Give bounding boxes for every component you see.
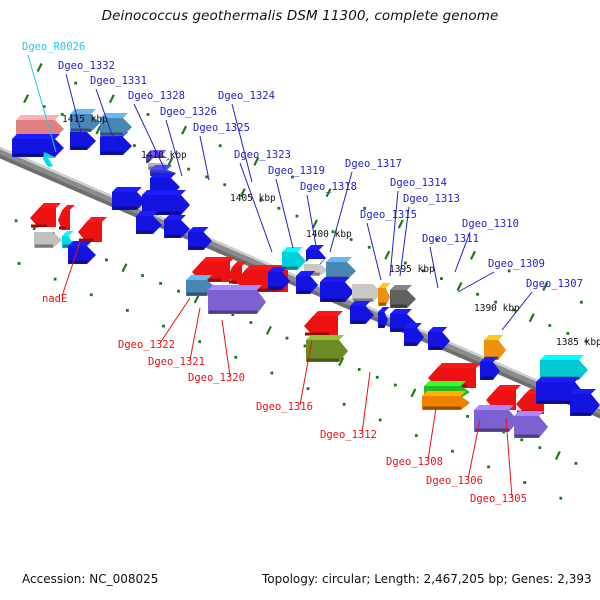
rna-label[interactable]: Dgeo_R0026 [22,41,85,53]
gene-glyph-bottom-shade [113,207,137,210]
gene-label-forward[interactable]: Dgeo_1324 [218,90,275,102]
gene-glyph-bottom-shade [481,377,493,380]
gene-glyph-top-bevel [306,335,344,340]
scale-tick-dot [286,337,289,340]
gene-glyph-bottom-shade [101,152,123,155]
gene-glyph-top-bevel [320,277,350,282]
gene-glyph-top-bevel [390,309,412,314]
scale-tick-dot [219,144,222,147]
scale-tick-dot [198,340,201,343]
gene-label-forward[interactable]: Dgeo_1323 [234,149,291,161]
scale-tick-dot [440,277,443,280]
gene-glyph[interactable] [352,279,382,302]
scale-tick-dot [394,384,397,387]
label-leader-line [428,408,436,460]
gene-glyph-bottom-shade [137,231,153,234]
scale-tick-mark [182,126,186,134]
gene-glyph[interactable] [12,134,64,157]
scale-tick-dot [476,293,479,296]
scale-tick-mark [399,220,403,228]
gene-glyph-top-bevel [313,311,343,316]
gene-glyph-top-bevel [86,217,107,222]
gene-glyph-bottom-shade [269,287,282,290]
gene-glyph-bottom-shade [405,343,417,346]
gene-glyph-top-bevel [390,285,412,290]
gene-glyph-top-bevel [540,355,584,360]
gene-glyph[interactable] [484,335,506,360]
scale-tick-dot [487,465,490,468]
scale-tick-dot [177,290,180,293]
scale-tick-dot [205,176,208,179]
scale-tick-dot [249,321,252,324]
scale-tick-mark [122,264,126,272]
scale-tick-mark [471,251,475,259]
scale-tick-mark [556,451,560,459]
scale-tick-dot [90,293,93,296]
scale-position-label: 1415 kbp [62,114,108,125]
gene-label-reverse[interactable]: Dgeo_1320 [188,372,245,384]
gene-glyph[interactable] [378,283,391,306]
gene-glyph-top-bevel [188,227,209,232]
gene-glyph-bottom-shade [515,435,539,438]
gene-glyph-top-bevel [12,134,60,139]
gene-glyph-top-bevel [378,283,391,288]
gene-glyph[interactable] [34,227,62,248]
scale-tick-mark [267,326,271,334]
scale-position-label: 1390 kbp [474,303,520,314]
gene-glyph[interactable] [350,301,374,324]
gene-glyph-bottom-shade [571,413,591,416]
gene-label-reverse[interactable]: nadE [42,293,67,305]
gene-glyph-top-bevel [474,405,514,410]
gene-glyph-top-bevel [495,385,521,390]
scale-tick-dot [270,372,273,375]
gene-label-forward[interactable]: Dgeo_1328 [128,90,185,102]
scale-tick-mark [530,314,534,322]
gene-label-forward[interactable]: Dgeo_1315 [360,209,417,221]
gene-glyph-top-bevel [112,187,142,192]
scale-tick-dot [187,168,190,171]
scale-tick-mark [24,95,28,103]
gene-glyph-bottom-shade [187,293,207,296]
gene-glyph-top-bevel [142,190,186,195]
scale-tick-mark [411,389,415,397]
gene-glyph-top-bevel [164,215,186,220]
gene-glyph-bottom-shade [59,227,66,230]
label-leader-line [276,179,293,248]
gene-glyph-top-bevel [282,247,303,252]
gene-glyph-top-bevel [16,115,60,120]
scale-tick-dot [548,324,551,327]
scale-position-label: 1405 kbp [230,193,276,204]
scale-tick-dot [580,301,583,304]
gene-label-forward[interactable]: Dgeo_1326 [160,106,217,118]
gene-glyph-top-bevel [378,307,390,312]
gene-glyph[interactable] [58,205,75,230]
gene-label-forward[interactable]: Dgeo_1310 [462,218,519,230]
scale-tick-dot [133,144,136,147]
gene-glyph-bottom-shade [209,311,257,314]
gene-glyph-bottom-shade [475,429,509,432]
gene-glyph[interactable] [480,357,500,380]
scale-tick-dot [343,403,346,406]
scale-tick-dot [538,446,541,449]
scale-tick-dot [358,368,361,371]
gene-glyph-top-bevel [62,231,74,236]
gene-glyph[interactable] [208,285,266,314]
scale-tick-dot [33,227,36,230]
scale-tick-dot [223,183,226,186]
gene-glyph[interactable] [326,257,356,280]
gene-glyph-top-bevel [201,257,235,262]
gene-glyph-bottom-shade [423,407,461,410]
gene-glyph-bottom-shade [391,305,407,308]
scale-position-label: 1400 kbp [306,229,352,240]
gene-glyph-top-bevel [536,377,580,382]
scale-tick-mark [110,95,114,103]
label-leader-line [362,372,370,433]
gene-label-forward[interactable]: Dgeo_1331 [90,75,147,87]
gene-label-forward[interactable]: Dgeo_1325 [193,122,250,134]
gene-glyph[interactable] [78,217,107,242]
scale-tick-mark [385,251,389,259]
scale-tick-dot [520,438,523,441]
gene-label-reverse[interactable]: Dgeo_1316 [256,401,313,413]
label-leader-line [222,320,230,376]
label-leader-line [232,104,252,182]
gene-label-forward[interactable]: Dgeo_1307 [526,278,583,290]
scale-tick-dot [162,325,165,328]
gene-glyph-bottom-shade [35,245,53,248]
gene-glyph[interactable] [68,241,96,264]
scale-tick-dot [234,356,237,359]
footer-accession: Accession: NC_008025 [22,572,158,586]
gene-glyph-top-bevel [62,205,75,210]
scale-tick-dot [451,450,454,453]
scale-position-label: 1410 kbp [141,150,187,161]
scale-tick-dot [523,481,526,484]
scale-tick-dot [415,434,418,437]
gene-glyph[interactable] [282,247,306,270]
footer-sequence-stats: Topology: circular; Length: 2,467,205 bp… [262,572,592,586]
scale-tick-dot [376,376,379,379]
gene-glyph[interactable] [514,411,548,438]
gene-glyph-bottom-shade [379,325,385,328]
gene-glyph-top-bevel [428,327,447,332]
gene-glyph-top-bevel [352,279,378,284]
gene-glyph[interactable] [422,391,470,410]
scale-tick-dot [159,282,162,285]
scale-tick-dot [147,113,150,116]
gene-glyph-bottom-shade [69,261,87,264]
gene-label-reverse[interactable]: Dgeo_1312 [320,429,377,441]
gene-glyph[interactable] [306,335,348,362]
gene-glyph-bottom-shade [379,303,386,306]
gene-label-forward[interactable]: Dgeo_1313 [403,193,460,205]
gene-label-reverse[interactable]: Dgeo_1308 [386,456,443,468]
gene-label-forward[interactable]: Dgeo_1311 [422,233,479,245]
scale-tick-dot [575,462,578,465]
gene-label-forward[interactable]: Dgeo_1317 [345,158,402,170]
scale-tick-mark [195,295,199,303]
label-leader-line [367,223,381,280]
gene-glyphs-group[interactable] [12,109,600,438]
gene-label-reverse[interactable]: Dgeo_1305 [470,493,527,505]
scale-tick-dot [368,246,371,249]
gene-glyph-bottom-shade [537,401,575,404]
gene-glyph-top-bevel [208,285,262,290]
gene-glyph[interactable] [540,355,588,380]
scale-tick-dot [296,215,299,218]
scale-tick-mark [457,282,461,290]
label-leader-line [190,308,200,360]
gene-glyph-body [208,290,266,314]
gene-label-forward[interactable]: Dgeo_1314 [390,177,447,189]
gene-glyph-bottom-shade [189,247,204,250]
scale-tick-dot [15,219,18,222]
scale-tick-dot [566,332,569,335]
gene-glyph-top-bevel [437,363,481,368]
gene-glyph-bottom-shade [321,299,345,302]
scale-tick-dot [307,387,310,390]
scale-tick-dot [54,278,57,281]
gene-glyph[interactable] [390,285,416,308]
gene-glyph-top-bevel [326,257,352,262]
label-leader-line [458,272,494,292]
gene-glyph[interactable] [304,311,343,336]
gene-glyph-bottom-shade [71,147,87,150]
label-leader-line [200,136,209,180]
gene-glyph-top-bevel [422,391,466,396]
genome-map-canvas[interactable]: 1415 kbp1410 kbp1405 kbp1400 kbp1395 kbp… [0,0,600,600]
gene-glyph[interactable] [30,203,61,228]
scale-tick-dot [105,258,108,261]
gene-label-forward[interactable]: Dgeo_1318 [300,181,357,193]
gene-glyph[interactable] [404,323,424,346]
gene-glyph-top-bevel [39,203,61,208]
scale-tick-dot [559,497,562,500]
scale-tick-dot [466,415,469,418]
gene-label-reverse[interactable]: Dgeo_1322 [118,339,175,351]
scale-position-label: 1395 kbp [389,264,435,275]
scale-tick-dot [141,274,144,277]
scale-tick-dot [126,309,129,312]
genome-map-viewer: Deinococcus geothermalis DSM 11300, comp… [0,0,600,600]
gene-glyph-top-bevel [484,335,503,340]
gene-glyph-top-bevel [306,245,324,250]
scale-tick-dot [74,82,77,85]
scale-tick-mark [96,126,100,134]
gene-label-forward[interactable]: Dgeo_1319 [268,165,325,177]
label-leader-line [160,298,190,343]
gene-glyph-top-bevel [514,411,544,416]
gene-glyph-bottom-shade [63,245,69,248]
scale-tick-mark [313,220,317,228]
gene-glyph-top-bevel [424,381,466,386]
scale-position-label: 1385 kbp [556,337,600,348]
scale-tick-dot [379,419,382,422]
gene-glyph-bottom-shade [351,321,366,324]
gene-glyph[interactable] [112,187,146,210]
scale-tick-dot [18,262,21,265]
gene-label-reverse[interactable]: Dgeo_1321 [148,356,205,368]
scale-tick-mark [38,63,42,71]
gene-label-reverse[interactable]: Dgeo_1306 [426,475,483,487]
gene-glyph-bottom-shade [307,359,339,362]
gene-label-forward[interactable]: Dgeo_1309 [488,258,545,270]
gene-glyph-bottom-shade [429,347,442,350]
gene-glyph-bottom-shade [297,291,310,294]
gene-glyph-bottom-shade [229,281,237,284]
gene-glyph-top-bevel [34,227,58,232]
scale-tick-dot [278,207,281,210]
gene-glyph-bottom-shade [165,235,181,238]
gene-label-forward[interactable]: Dgeo_1332 [58,60,115,72]
